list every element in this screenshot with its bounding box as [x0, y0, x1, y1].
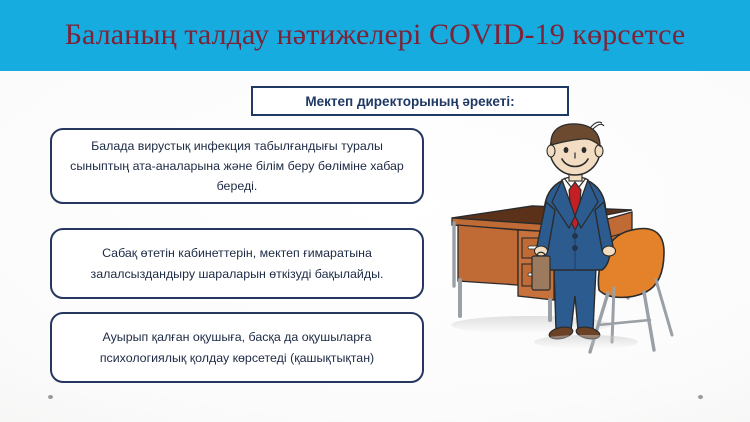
- statement-box-1: Балада вирустық инфекция табылғандығы ту…: [50, 128, 424, 204]
- desk-front-panel: [458, 225, 518, 285]
- jacket-button-lower: [573, 246, 578, 251]
- statement-text-2: Сабақ өтетін кабинеттерін, мектеп ғимара…: [52, 243, 422, 283]
- statement-text-1: Балада вирустық инфекция табылғандығы ту…: [52, 136, 422, 196]
- page-title: Баланың талдау нәтижелері COVID-19 көрсе…: [0, 0, 750, 71]
- statement-box-3: Ауырып қалған оқушыға, басқа да оқушылар…: [50, 312, 424, 383]
- eye-right: [582, 147, 587, 153]
- illustration-principal-at-desk: [436, 120, 736, 380]
- briefcase: [532, 256, 550, 290]
- statement-text-3: Ауырып қалған оқушыға, басқа да оқушылар…: [52, 327, 422, 367]
- hand-left: [535, 246, 548, 256]
- statement-box-2: Сабақ өтетін кабинеттерін, мектеп ғимара…: [50, 228, 424, 299]
- chair-leg-rear-left: [612, 288, 614, 342]
- chair-leg-rear-right: [656, 280, 672, 335]
- corner-dot-right: [698, 395, 703, 399]
- ear-left: [547, 145, 555, 157]
- ear-right: [595, 145, 603, 157]
- subtitle-text: Мектеп директорының әрекеті:: [305, 94, 514, 109]
- corner-dot-left: [48, 395, 53, 399]
- eye-left: [564, 147, 569, 153]
- subtitle-box: Мектеп директорының әрекеті:: [251, 86, 569, 116]
- jacket-button-upper: [573, 234, 578, 239]
- figure-shadow: [534, 335, 638, 349]
- hand-right: [603, 246, 616, 256]
- slide: Баланың талдау нәтижелері COVID-19 көрсе…: [0, 0, 750, 422]
